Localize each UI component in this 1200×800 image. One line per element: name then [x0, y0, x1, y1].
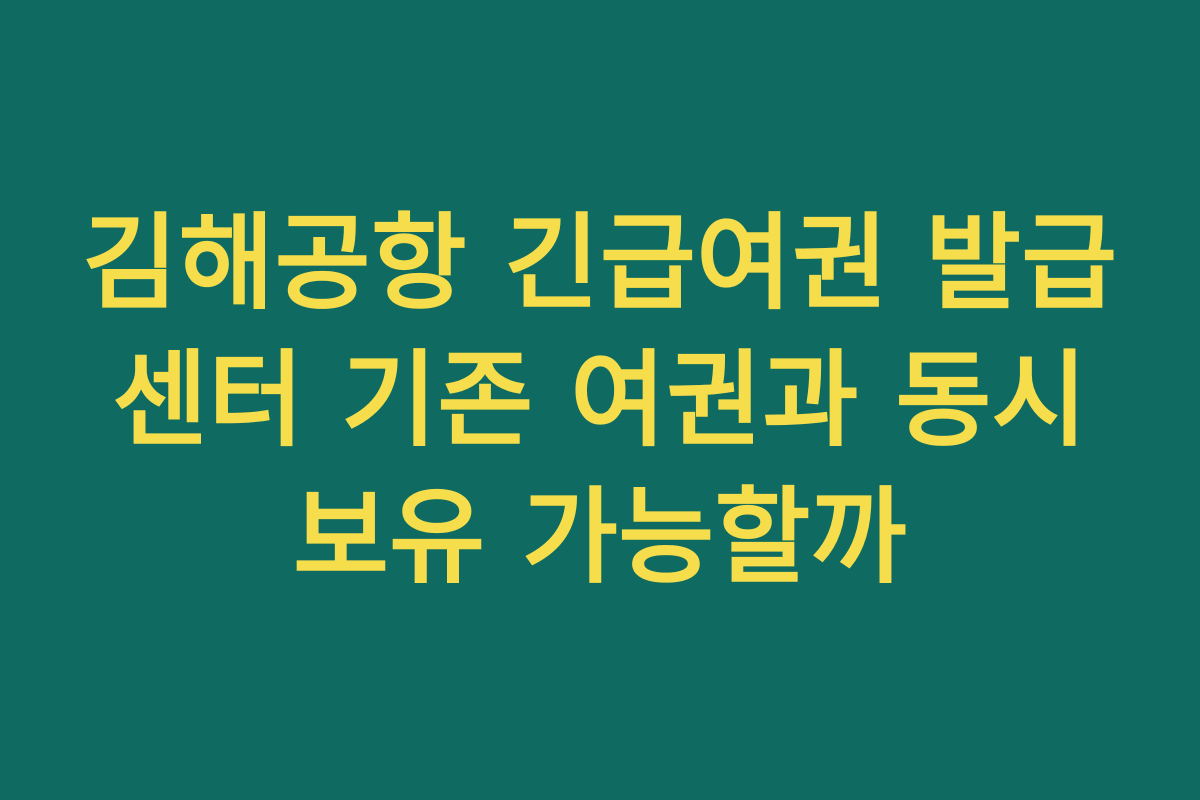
thumbnail-card: 김해공항 긴급여권 발급 센터 기존 여권과 동시 보유 가능할까: [0, 0, 1200, 800]
headline-line-3: 보유 가능할까: [50, 469, 1150, 606]
headline-line-2: 센터 기존 여권과 동시: [50, 332, 1150, 469]
headline-block: 김해공항 긴급여권 발급 센터 기존 여권과 동시 보유 가능할까: [50, 195, 1150, 606]
headline-line-1: 김해공항 긴급여권 발급: [50, 195, 1150, 332]
